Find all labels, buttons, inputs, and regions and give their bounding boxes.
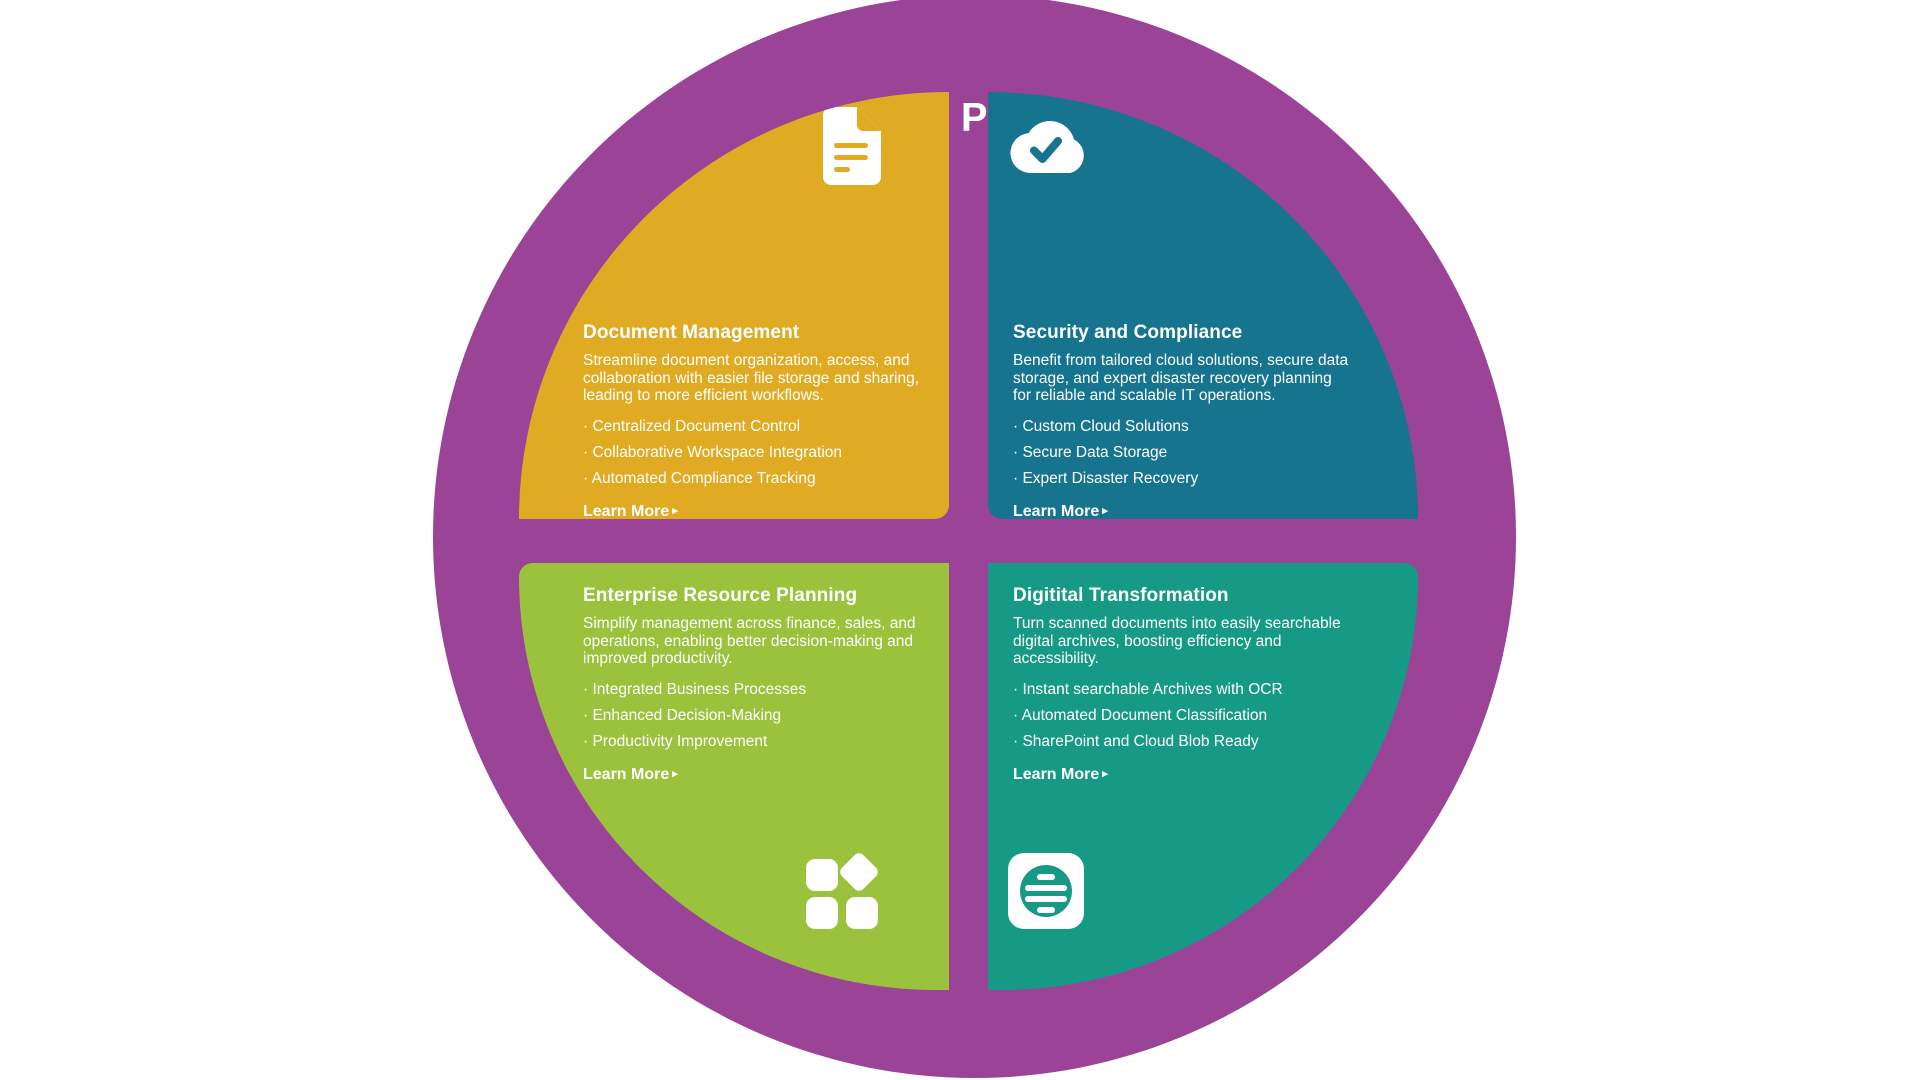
infographic-canvas: Super Product Document Management St (0, 0, 1920, 1080)
document-icon (819, 107, 881, 190)
list-item: · Integrated Business Processes (583, 680, 923, 699)
quadrant-content: Enterprise Resource Planning Simplify ma… (583, 585, 923, 784)
learn-more-link[interactable]: Learn More▸ (583, 766, 678, 784)
striped-circle-icon (1008, 853, 1084, 934)
list-item: · Custom Cloud Solutions (1013, 417, 1353, 436)
list-item: · Automated Compliance Tracking (583, 469, 923, 488)
list-item: · Collaborative Workspace Integration (583, 443, 923, 462)
list-item: · SharePoint and Cloud Blob Ready (1013, 732, 1353, 751)
learn-more-link[interactable]: Learn More▸ (1013, 766, 1108, 784)
quadrant-title: Digitital Transformation (1013, 585, 1353, 607)
quadrant-enterprise-resource-planning[interactable]: Enterprise Resource Planning Simplify ma… (519, 563, 949, 990)
quadrant-feature-list: · Instant searchable Archives with OCR ·… (1013, 680, 1353, 752)
learn-more-label: Learn More (583, 503, 669, 519)
quadrant-title: Enterprise Resource Planning (583, 585, 923, 607)
chevron-right-icon: ▸ (672, 768, 678, 780)
learn-more-link[interactable]: Learn More▸ (583, 503, 678, 519)
quadrant-digitital-transformation[interactable]: Digitital Transformation Turn scanned do… (988, 563, 1418, 990)
learn-more-label: Learn More (1013, 503, 1099, 519)
quadrant-content: Security and Compliance Benefit from tai… (1013, 322, 1353, 519)
list-item: · Automated Document Classification (1013, 706, 1353, 725)
quadrant-description: Turn scanned documents into easily searc… (1013, 615, 1353, 668)
learn-more-link[interactable]: Learn More▸ (1013, 503, 1108, 519)
blocks-grid-icon (804, 853, 884, 936)
list-item: · Enhanced Decision-Making (583, 706, 923, 725)
chevron-right-icon: ▸ (672, 505, 678, 517)
quadrant-security-and-compliance[interactable]: Security and Compliance Benefit from tai… (988, 92, 1418, 519)
quadrant-description: Benefit from tailored cloud solutions, s… (1013, 352, 1353, 405)
list-item: · Secure Data Storage (1013, 443, 1353, 462)
list-item: · Productivity Improvement (583, 732, 923, 751)
quadrant-description: Streamline document organization, access… (583, 352, 923, 405)
quadrant-description: Simplify management across finance, sale… (583, 615, 923, 668)
quadrant-feature-list: · Integrated Business Processes · Enhanc… (583, 680, 923, 752)
quadrant-content: Document Management Streamline document … (583, 322, 923, 519)
chevron-right-icon: ▸ (1102, 505, 1108, 517)
quadrant-feature-list: · Custom Cloud Solutions · Secure Data S… (1013, 417, 1353, 489)
list-item: · Centralized Document Control (583, 417, 923, 436)
learn-more-label: Learn More (1013, 766, 1099, 783)
chevron-right-icon: ▸ (1102, 768, 1108, 780)
cloud-check-icon (1008, 117, 1086, 180)
quadrant-content: Digitital Transformation Turn scanned do… (1013, 585, 1353, 784)
quadrant-document-management[interactable]: Document Management Streamline document … (519, 92, 949, 519)
learn-more-label: Learn More (583, 766, 669, 783)
list-item: · Expert Disaster Recovery (1013, 469, 1353, 488)
quadrant-title: Security and Compliance (1013, 322, 1353, 344)
quadrant-title: Document Management (583, 322, 923, 344)
quadrant-feature-list: · Centralized Document Control · Collabo… (583, 417, 923, 489)
list-item: · Instant searchable Archives with OCR (1013, 680, 1353, 699)
